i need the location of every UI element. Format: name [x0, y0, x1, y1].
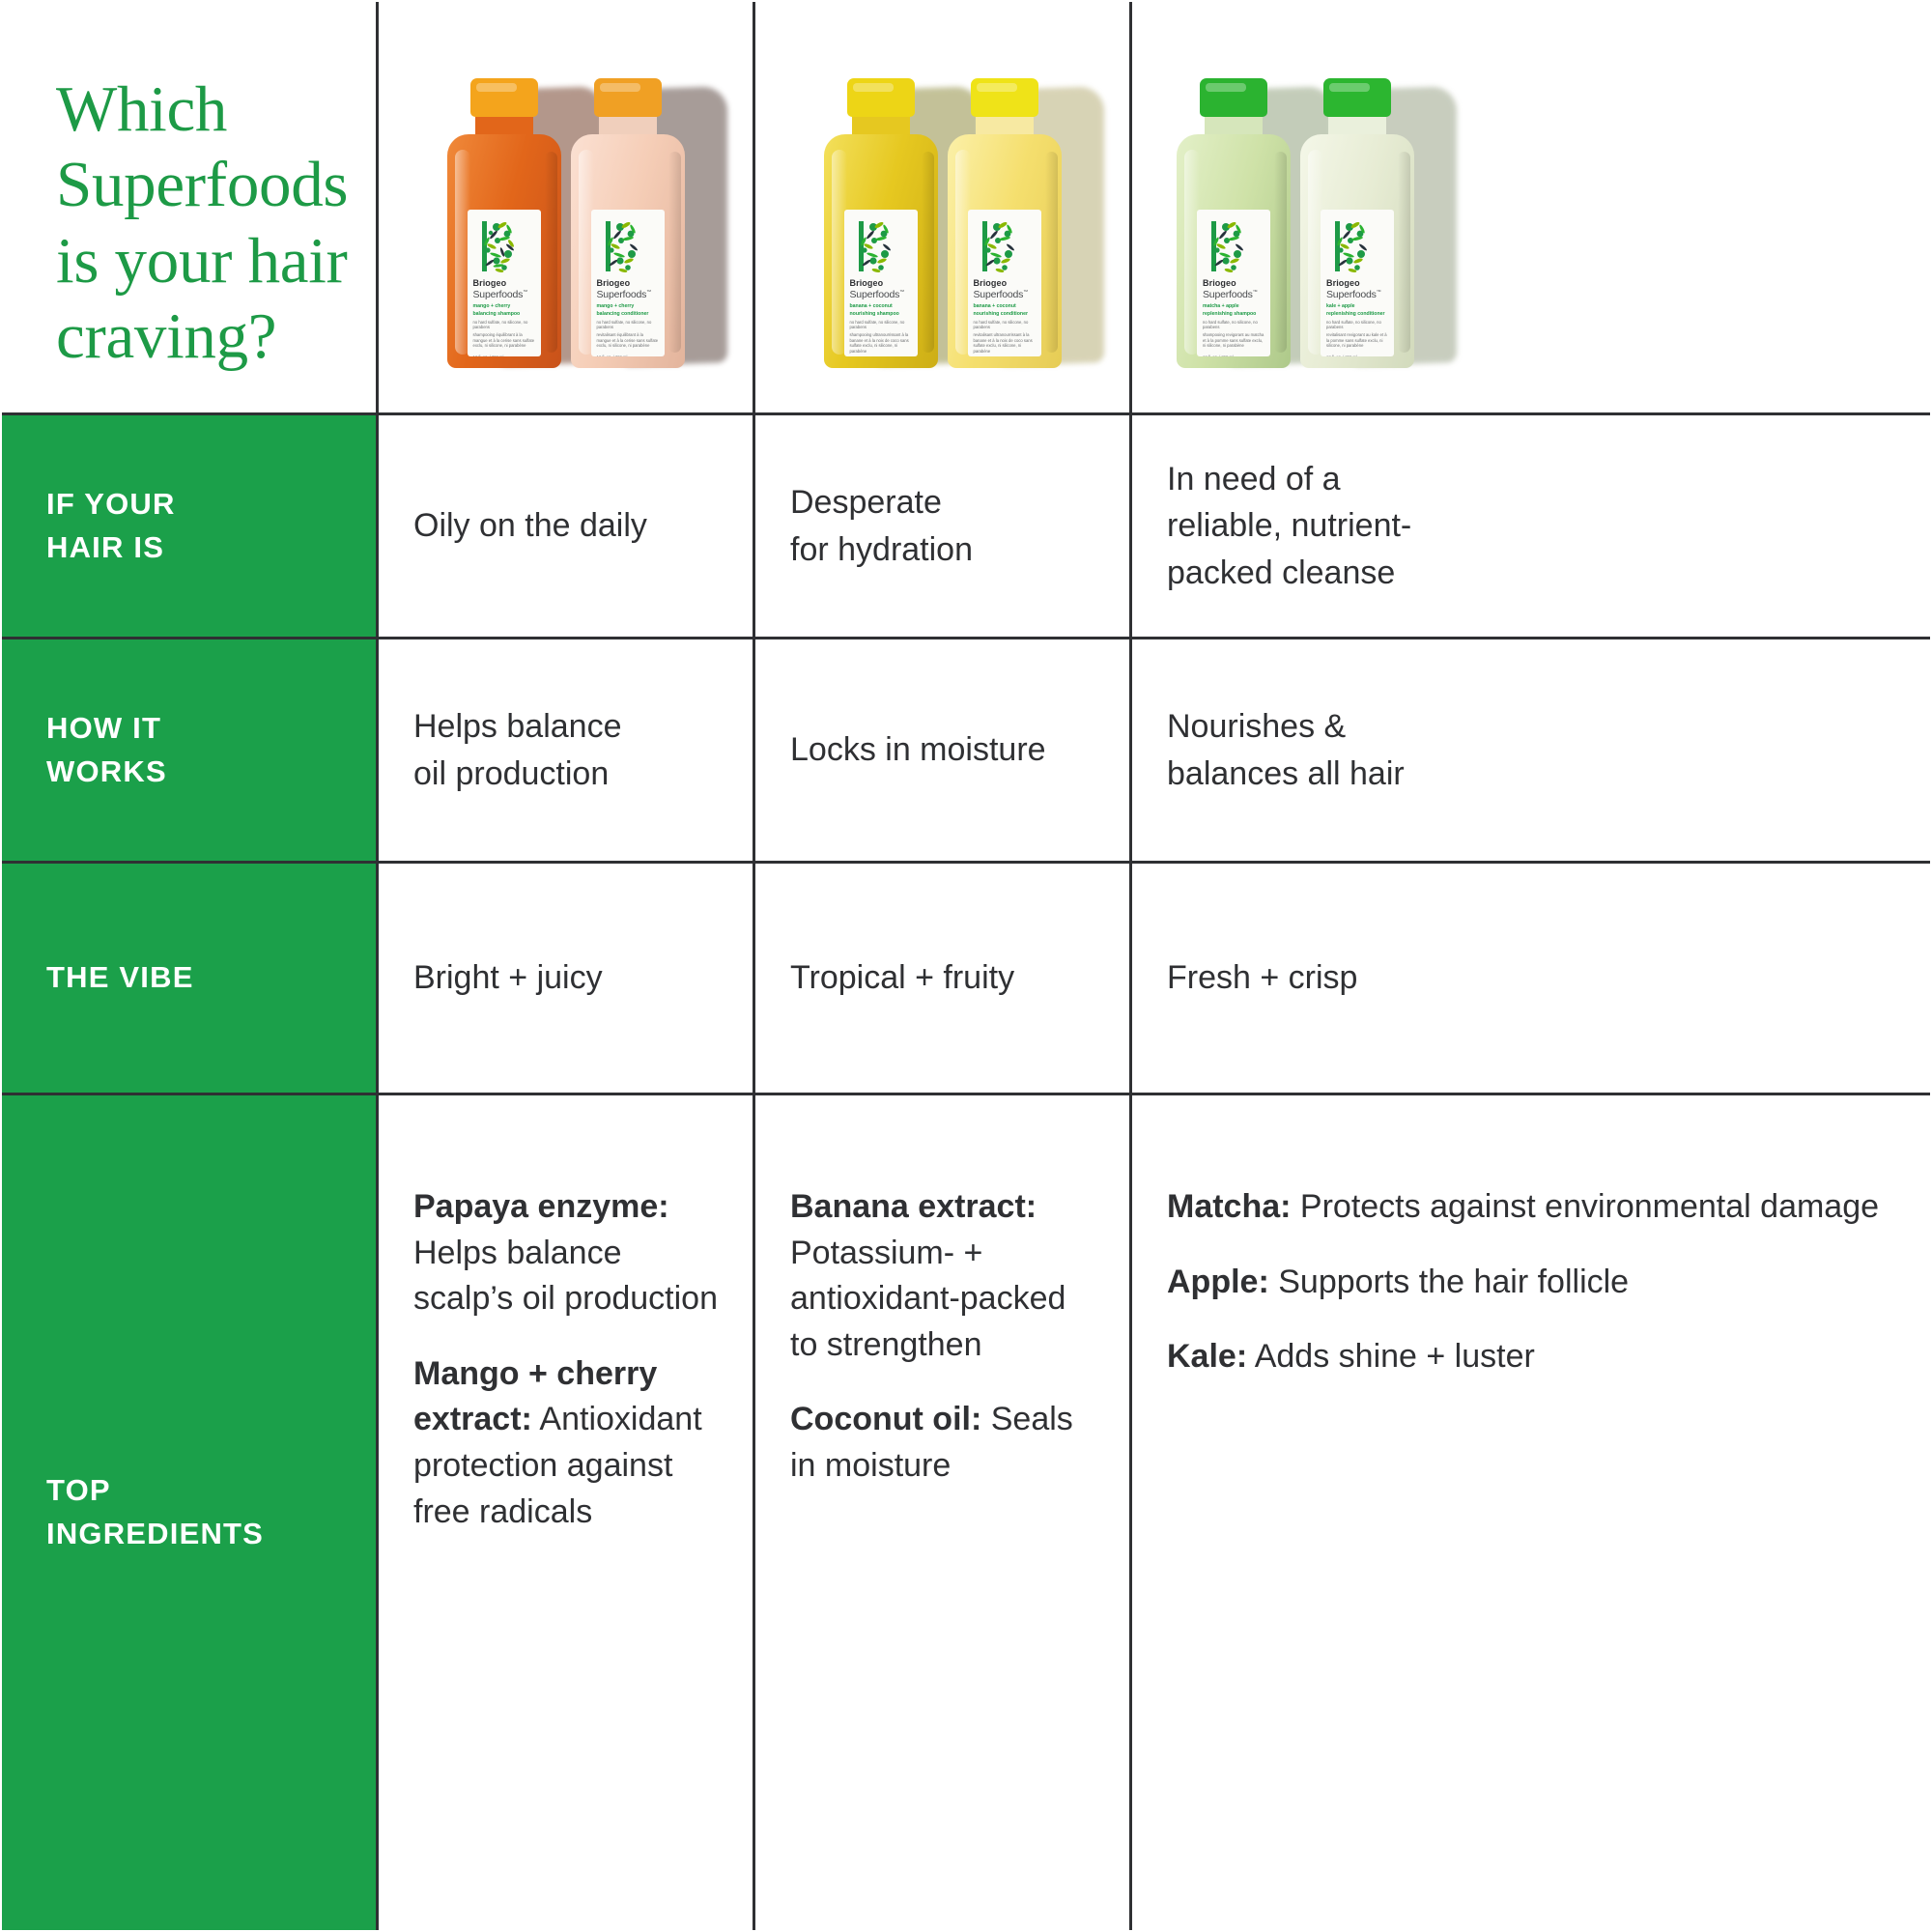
label-brand: Briogeo	[850, 279, 912, 288]
row-label-line: THE VIBE	[46, 956, 194, 1000]
bottle-cap	[594, 78, 662, 117]
product-label: Briogeo Superfoods™ mango + cherry balan…	[591, 210, 665, 356]
bottle-group: Briogeo Superfoods™ banana + coconut nou…	[755, 2, 1129, 412]
product-label: Briogeo Superfoods™ kale + apple repleni…	[1321, 210, 1394, 356]
briogeo-leaf-b-logo-icon	[852, 217, 896, 275]
label-claims-fr: shampooing revigorant au matcha et à la …	[1203, 332, 1264, 348]
ingredient-name: Kale:	[1167, 1338, 1247, 1375]
cell-text-line: Helps balance	[413, 703, 621, 750]
row-label-line: WORKS	[46, 751, 167, 794]
cell-if-hair-is-col3: In need of a reliable, nutrient- packed …	[1132, 415, 1930, 639]
label-line: Superfoods™	[1326, 290, 1388, 300]
label-claims: no hard sulfate, no silicone, no paraben…	[597, 320, 659, 330]
label-variant-1: matcha + apple	[1203, 303, 1264, 310]
label-volume: 12 fl. oz. / 369 ml	[597, 355, 659, 356]
label-volume: 12 fl. oz. / 369 ml	[473, 355, 535, 356]
label-claims: no hard sulfate, no silicone, no paraben…	[1203, 320, 1264, 330]
product-label: Briogeo Superfoods™ banana + coconut nou…	[968, 210, 1041, 356]
ingredient-item: Banana extract: Potassium- + antioxidant…	[790, 1184, 1094, 1368]
ingredient-desc: Adds shine + luster	[1247, 1338, 1535, 1375]
label-brand: Briogeo	[473, 279, 535, 288]
label-brand: Briogeo	[1203, 279, 1264, 288]
title-line-2: Superfoods	[56, 147, 376, 222]
label-variant-2: replenishing shampoo	[1203, 311, 1264, 318]
label-claims: no hard sulfate, no silicone, no paraben…	[473, 320, 535, 330]
bottle-cap	[1323, 78, 1391, 117]
cell-text-line: Tropical + fruity	[790, 954, 1014, 1001]
bottle-cap	[971, 78, 1038, 117]
product-label: Briogeo Superfoods™ matcha + apple reple…	[1197, 210, 1270, 356]
product-label: Briogeo Superfoods™ banana + coconut nou…	[844, 210, 918, 356]
label-claims-fr: shampooing équilibrant à la mangue et à …	[473, 332, 535, 348]
cell-text-line: Nourishes &	[1167, 703, 1405, 750]
title-line-4: craving?	[56, 298, 376, 374]
label-variant-2: replenishing conditioner	[1326, 311, 1388, 318]
ingredient-item: Mango + cherry extract: Antioxidant prot…	[413, 1351, 718, 1535]
title-line-1: Which	[56, 71, 376, 147]
label-volume: 12 fl. oz. / 369 ml	[1203, 355, 1264, 356]
comparison-grid: Which Superfoods is your hair craving?	[2, 2, 1930, 1930]
label-brand: Briogeo	[974, 279, 1036, 288]
cell-text-line: Oily on the daily	[413, 502, 647, 549]
row-label-if-your-hair-is: IF YOUR HAIR IS	[2, 415, 379, 639]
title-cell: Which Superfoods is your hair craving?	[2, 2, 379, 415]
product-photo-matcha-apple-kale: Briogeo Superfoods™ matcha + apple reple…	[1132, 2, 1930, 415]
cell-text-line: In need of a	[1167, 456, 1411, 502]
ingredient-name: Banana extract:	[790, 1188, 1037, 1225]
cell-text-line: Locks in moisture	[790, 726, 1046, 773]
briogeo-leaf-b-logo-icon	[475, 217, 520, 275]
cell-the-vibe-col2: Tropical + fruity	[755, 864, 1132, 1095]
cell-top-ingredients-col1: Papaya enzyme: Helps balance scalp’s oil…	[379, 1095, 755, 1930]
product-label: Briogeo Superfoods™ mango + cherry balan…	[468, 210, 541, 356]
ingredient-item: Coconut oil: Seals in moisture	[790, 1397, 1094, 1489]
row-label-line: HOW IT	[46, 707, 167, 751]
label-claims-fr: revitalisant équilibrant à la mangue et …	[597, 332, 659, 348]
briogeo-leaf-b-logo-icon	[599, 217, 643, 275]
cell-text-line: oil production	[413, 751, 621, 797]
label-variant-1: mango + cherry	[473, 303, 535, 310]
ingredient-name: Matcha:	[1167, 1188, 1291, 1225]
label-volume: 12 fl. oz. / 369 ml	[1326, 355, 1388, 356]
bottle-shampoo: Briogeo Superfoods™ matcha + apple reple…	[1177, 78, 1291, 368]
product-photo-banana-coconut: Briogeo Superfoods™ banana + coconut nou…	[755, 2, 1132, 415]
row-label-line: TOP	[46, 1469, 264, 1513]
bottle-shampoo: Briogeo Superfoods™ banana + coconut nou…	[824, 78, 938, 368]
row-label-line: HAIR IS	[46, 526, 176, 570]
label-claims-fr: revitalisant ultranourrissant à la banan…	[974, 332, 1036, 354]
cell-if-hair-is-col1: Oily on the daily	[379, 415, 755, 639]
bottle-conditioner: Briogeo Superfoods™ kale + apple repleni…	[1300, 78, 1414, 368]
label-claims-fr: revitalisant revigorant au kale et à la …	[1326, 332, 1388, 348]
briogeo-leaf-b-logo-icon	[1205, 217, 1249, 275]
ingredient-item: Papaya enzyme: Helps balance scalp’s oil…	[413, 1184, 718, 1322]
bottle-cap	[470, 78, 538, 117]
ingredient-desc: Potassium- + antioxidant-packed to stren…	[790, 1235, 1065, 1363]
cell-the-vibe-col3: Fresh + crisp	[1132, 864, 1930, 1095]
label-line: Superfoods™	[1203, 290, 1264, 300]
cell-top-ingredients-col2: Banana extract: Potassium- + antioxidant…	[755, 1095, 1132, 1930]
label-variant-2: balancing conditioner	[597, 311, 659, 318]
ingredient-desc: Helps balance scalp’s oil production	[413, 1235, 718, 1318]
cell-text-line: reliable, nutrient-	[1167, 502, 1411, 549]
ingredient-desc: Supports the hair follicle	[1269, 1264, 1629, 1300]
ingredient-item: Apple: Supports the hair follicle	[1167, 1260, 1879, 1306]
bottle-group: Briogeo Superfoods™ mango + cherry balan…	[379, 2, 753, 412]
cell-text-line: packed cleanse	[1167, 550, 1411, 596]
label-variant-2: nourishing shampoo	[850, 311, 912, 318]
label-variant-1: mango + cherry	[597, 303, 659, 310]
ingredient-item: Kale: Adds shine + luster	[1167, 1334, 1879, 1380]
label-claims-fr: shampooing ultranourrissant à la banane …	[850, 332, 912, 354]
label-line: Superfoods™	[974, 290, 1036, 300]
row-label-line: IF YOUR	[46, 483, 176, 526]
cell-text-line: Desperate	[790, 479, 973, 526]
cell-if-hair-is-col2: Desperate for hydration	[755, 415, 1132, 639]
label-line: Superfoods™	[473, 290, 535, 300]
row-label-top-ingredients: TOP INGREDIENTS	[2, 1095, 379, 1930]
cell-the-vibe-col1: Bright + juicy	[379, 864, 755, 1095]
ingredient-name: Coconut oil:	[790, 1401, 981, 1437]
label-line: Superfoods™	[597, 290, 659, 300]
ingredient-name: Papaya enzyme:	[413, 1188, 669, 1225]
cell-text-line: balances all hair	[1167, 751, 1405, 797]
page-title: Which Superfoods is your hair craving?	[2, 2, 376, 375]
label-line: Superfoods™	[850, 290, 912, 300]
row-label-line: INGREDIENTS	[46, 1513, 264, 1556]
label-brand: Briogeo	[597, 279, 659, 288]
cell-how-it-works-col2: Locks in moisture	[755, 639, 1132, 864]
bottle-cap	[1200, 78, 1267, 117]
bottle-conditioner: Briogeo Superfoods™ mango + cherry balan…	[571, 78, 685, 368]
cell-text-line: Bright + juicy	[413, 954, 603, 1001]
bottle-cap	[847, 78, 915, 117]
cell-how-it-works-col3: Nourishes & balances all hair	[1132, 639, 1930, 864]
label-brand: Briogeo	[1326, 279, 1388, 288]
label-variant-1: banana + coconut	[850, 303, 912, 310]
label-claims: no hard sulfate, no silicone, no paraben…	[974, 320, 1036, 330]
product-photo-mango-cherry: Briogeo Superfoods™ mango + cherry balan…	[379, 2, 755, 415]
cell-how-it-works-col1: Helps balance oil production	[379, 639, 755, 864]
title-line-3: is your hair	[56, 223, 376, 298]
cell-text-line: Fresh + crisp	[1167, 954, 1357, 1001]
briogeo-leaf-b-logo-icon	[1328, 217, 1373, 275]
row-label-how-it-works: HOW IT WORKS	[2, 639, 379, 864]
ingredient-desc: Protects against environmental damage	[1291, 1188, 1879, 1225]
ingredient-item: Matcha: Protects against environmental d…	[1167, 1184, 1879, 1231]
row-label-the-vibe: THE VIBE	[2, 864, 379, 1095]
cell-text-line: for hydration	[790, 526, 973, 573]
label-variant-2: nourishing conditioner	[974, 311, 1036, 318]
ingredient-name: Apple:	[1167, 1264, 1269, 1300]
label-claims: no hard sulfate, no silicone, no paraben…	[850, 320, 912, 330]
superfoods-comparison-chart: Which Superfoods is your hair craving?	[0, 0, 1932, 1932]
bottle-group: Briogeo Superfoods™ matcha + apple reple…	[1132, 2, 1930, 412]
bottle-shampoo: Briogeo Superfoods™ mango + cherry balan…	[447, 78, 561, 368]
briogeo-leaf-b-logo-icon	[976, 217, 1020, 275]
cell-top-ingredients-col3: Matcha: Protects against environmental d…	[1132, 1095, 1930, 1930]
label-variant-1: banana + coconut	[974, 303, 1036, 310]
bottle-conditioner: Briogeo Superfoods™ banana + coconut nou…	[948, 78, 1062, 368]
label-claims: no hard sulfate, no silicone, no paraben…	[1326, 320, 1388, 330]
label-variant-2: balancing shampoo	[473, 311, 535, 318]
label-variant-1: kale + apple	[1326, 303, 1388, 310]
